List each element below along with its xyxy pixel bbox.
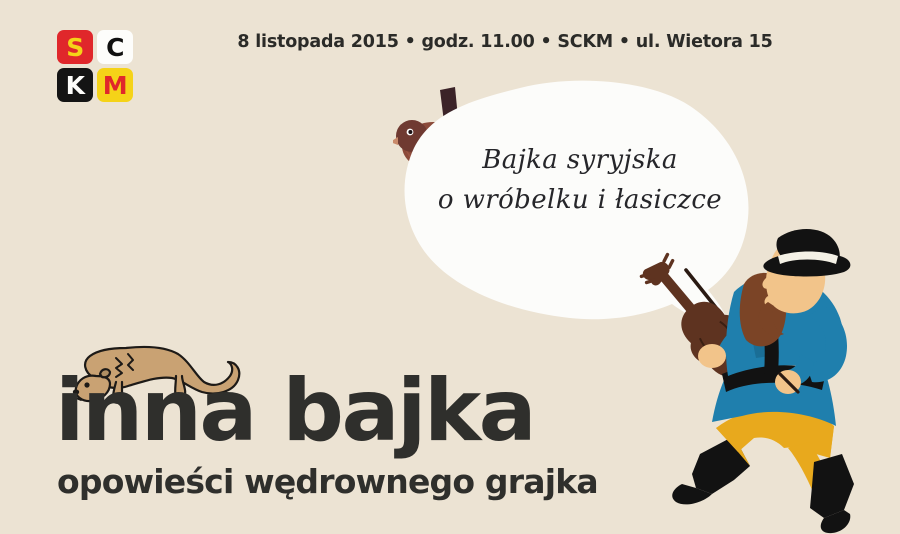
page-title: inna bajka	[55, 368, 534, 454]
bubble-line-2: o wróbelku i łasiczce	[435, 180, 725, 220]
bubble-text-block: Bajka syryjska o wróbelku i łasiczce	[435, 140, 725, 221]
walking-fiddler-illustration	[638, 222, 900, 534]
logo-tile-m: M	[97, 68, 133, 102]
bubble-line-1: Bajka syryjska	[482, 145, 678, 175]
event-info-line: 8 listopada 2015 • godz. 11.00 • SCKM • …	[0, 32, 900, 52]
logo-tile-k: K	[57, 68, 93, 102]
poster-canvas: S C K M 8 listopada 2015 • godz. 11.00 •…	[0, 0, 900, 534]
page-subtitle: opowieści wędrownego grajka	[57, 465, 598, 498]
